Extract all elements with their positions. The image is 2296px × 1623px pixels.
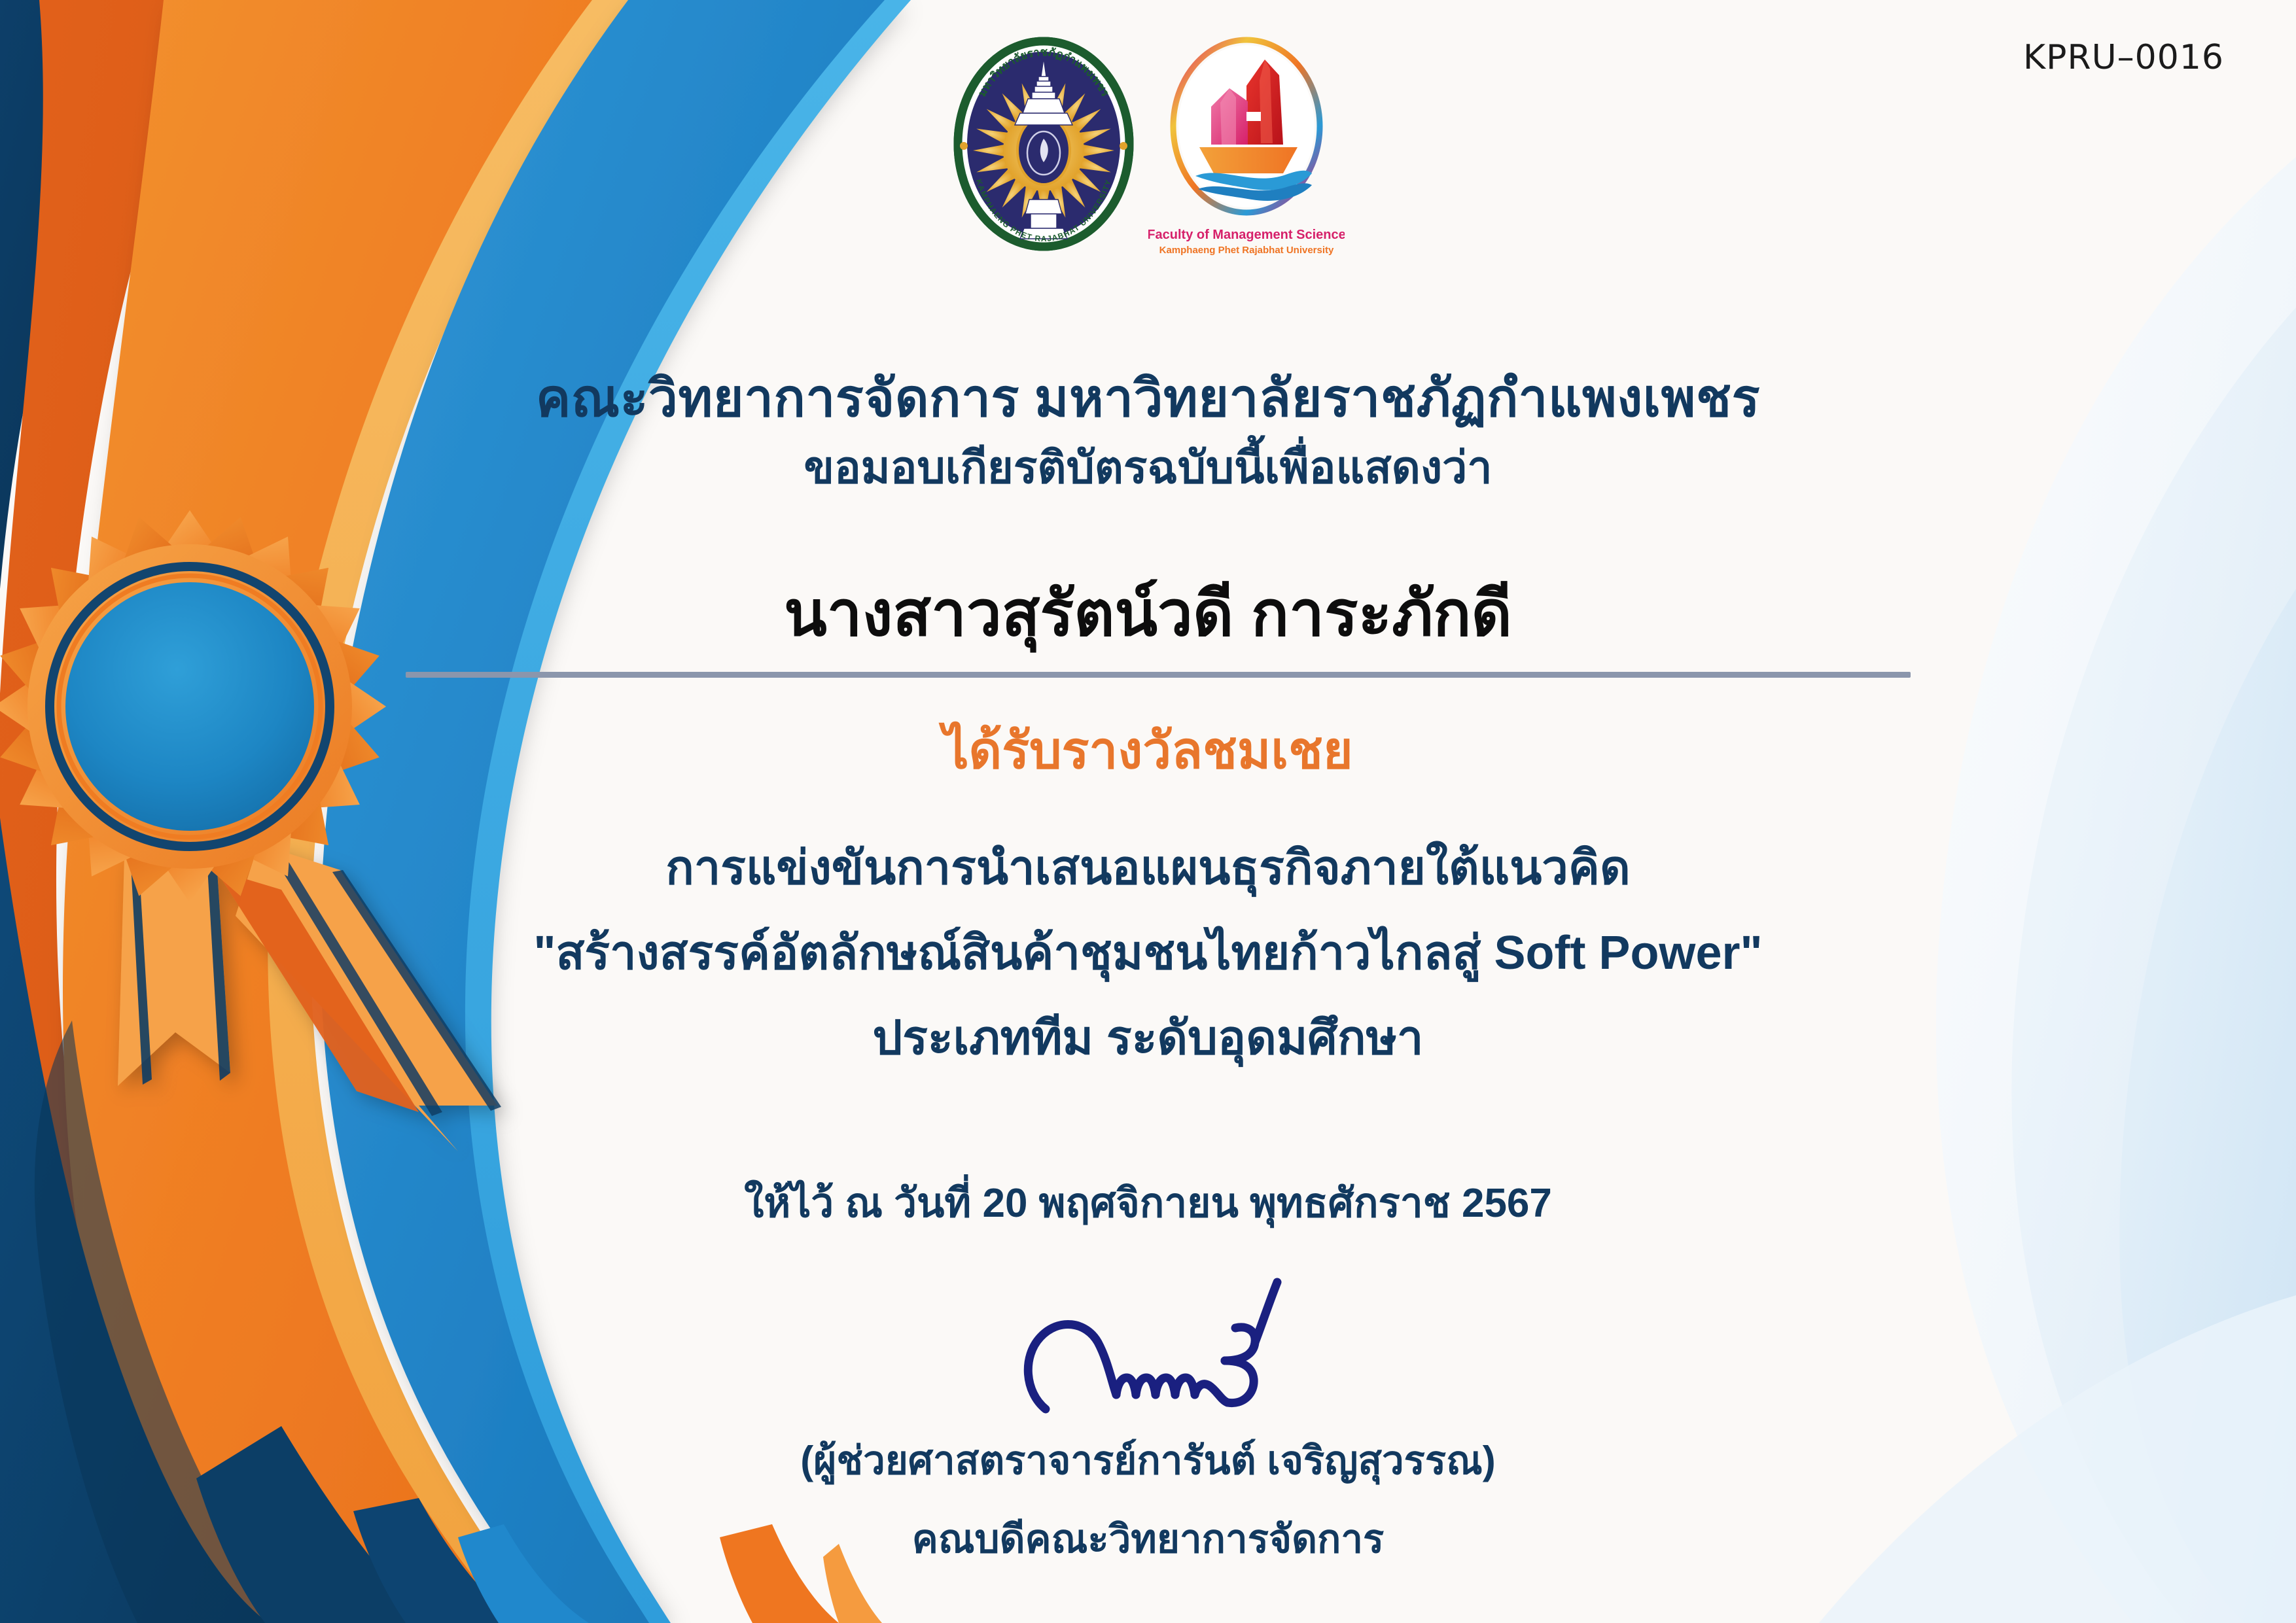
signer-position: คณบดีคณะวิทยาการจัดการ (0, 1508, 2296, 1570)
fms-subtitle: Kamphaeng Phet Rajabhat University (1159, 245, 1333, 256)
logo-row: มหาวิทยาลัยราชภัฏกำแพงเพชร KAMPHAENG PHE… (0, 36, 2296, 260)
signer-name: (ผู้ช่วยศาสตราจารย์การันต์ เจริญสุวรรณ) (0, 1429, 2296, 1492)
issue-date-line: ให้ไว้ ณ วันที่ 20 พฤศจิกายน พุทธศักราช … (0, 1171, 2296, 1235)
award-intro-text: ขอมอบเกียรติบัตรฉบับนี้เพื่อแสดงว่า (0, 432, 2296, 502)
recipient-name-rule (406, 672, 1911, 678)
handwritten-signature-mark (995, 1269, 1302, 1426)
certificate-page: มหาวิทยาลัยราชภัฏกำแพงเพชร KAMPHAENG PHE… (0, 0, 2296, 1623)
prize-label: ได้รับรางวัลชมเชย (0, 710, 2296, 791)
fms-title: Faculty of Management Science (1148, 228, 1345, 242)
competition-line-2: "สร้างสรรค์อัตลักษณ์สินค้าชุมชนไทยก้าวไก… (0, 915, 2296, 990)
competition-line-1: การแข่งขันการนำเสนอแผนธุรกิจภายใต้แนวคิด (0, 829, 2296, 905)
recipient-name: นางสาวสุรัตน์วดี การะภักดี (0, 564, 2296, 663)
kpru-seal-logo: มหาวิทยาลัยราชภัฏกำแพงเพชร KAMPHAENG PHE… (952, 36, 1135, 252)
faculty-of-management-science-logo: Faculty of Management Science Kamphaeng … (1148, 35, 1345, 260)
signature-area (0, 1269, 2296, 1426)
competition-line-3: ประเภททีม ระดับอุดมศึกษา (0, 1000, 2296, 1075)
certificate-serial-number: KPRU–0016 (2023, 38, 2224, 77)
faculty-heading: คณะวิทยาการจัดการ มหาวิทยาลัยราชภัฏกำแพง… (0, 357, 2296, 440)
